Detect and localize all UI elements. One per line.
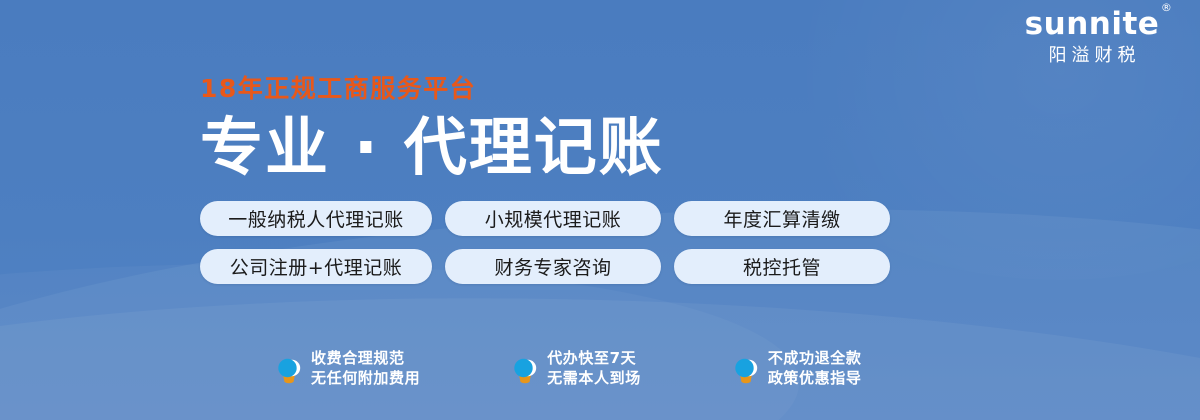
logo-wordmark: sunnite ®	[1025, 6, 1160, 42]
service-pill[interactable]: 税控托管	[674, 249, 890, 284]
logo-wordmark-text: sunnite	[1025, 6, 1160, 42]
headline-eyebrow: 18年正规工商服务平台	[200, 74, 664, 104]
service-pill[interactable]: 公司注册+代理记账	[200, 249, 432, 284]
moon-circle-icon	[733, 354, 759, 384]
headline-title: 专业 · 代理记账	[200, 112, 664, 184]
service-pill[interactable]: 年度汇算清缴	[674, 201, 890, 236]
marketing-banner: sunnite ® 阳溢财税 18年正规工商服务平台 专业 · 代理记账 一般纳…	[0, 0, 1200, 420]
logo-chinese-name: 阳溢财税	[1002, 44, 1182, 68]
service-pill[interactable]: 财务专家咨询	[445, 249, 661, 284]
feature-line-1: 收费合理规范	[311, 350, 420, 367]
brand-logo[interactable]: sunnite ® 阳溢财税	[1002, 6, 1182, 68]
headline-block: 18年正规工商服务平台 专业 · 代理记账	[200, 74, 664, 184]
feature-item: 不成功退全款 政策优惠指导	[733, 350, 862, 387]
feature-item: 收费合理规范 无任何附加费用	[276, 350, 420, 387]
feature-line-2: 无需本人到场	[547, 370, 641, 387]
feature-line-2: 无任何附加费用	[311, 370, 420, 387]
service-pill[interactable]: 小规模代理记账	[445, 201, 661, 236]
feature-text: 代办快至7天 无需本人到场	[547, 350, 641, 387]
service-pill-grid: 一般纳税人代理记账 小规模代理记账 年度汇算清缴 公司注册+代理记账 财务专家咨…	[200, 201, 890, 284]
service-pill[interactable]: 一般纳税人代理记账	[200, 201, 432, 236]
moon-circle-icon	[276, 354, 302, 384]
feature-strip: 收费合理规范 无任何附加费用 代办快至7天 无需本人到场	[276, 350, 861, 387]
moon-circle-icon	[512, 354, 538, 384]
registered-trademark-icon: ®	[1161, 2, 1173, 13]
feature-line-1: 不成功退全款	[768, 350, 862, 367]
feature-text: 不成功退全款 政策优惠指导	[768, 350, 862, 387]
feature-item: 代办快至7天 无需本人到场	[512, 350, 641, 387]
feature-line-2: 政策优惠指导	[768, 370, 862, 387]
feature-text: 收费合理规范 无任何附加费用	[311, 350, 420, 387]
feature-line-1: 代办快至7天	[547, 350, 641, 367]
